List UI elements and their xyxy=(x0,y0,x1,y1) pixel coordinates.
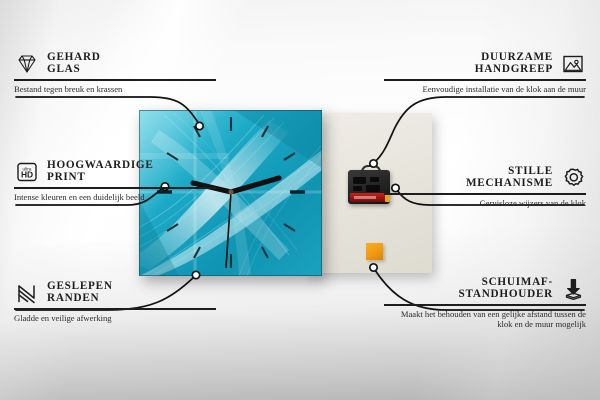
feature-stille-mechanisme: STILLE MECHANISME Geruisloze wijzers van… xyxy=(384,166,586,208)
feature-description: Geruisloze wijzers van de klok xyxy=(384,198,586,209)
feature-divider xyxy=(384,79,586,81)
feature-header: GESLEPEN RANDEN xyxy=(14,281,216,305)
feature-header: ultra HD HOOGWAARDIGE PRINT xyxy=(14,160,216,184)
feature-description: Intense kleuren en een duidelijk beeld xyxy=(14,192,216,203)
feature-header: DUURZAME HANDGREEP xyxy=(384,52,586,76)
feature-hoogwaardige-print: ultra HD HOOGWAARDIGE PRINT Intense kleu… xyxy=(14,160,216,202)
feature-description: Eenvoudige installatie van de klok aan d… xyxy=(384,84,586,95)
feature-title-line-2: HANDGREEP xyxy=(475,64,553,76)
feature-header: SCHUIMAF- STANDHOUDER xyxy=(384,277,586,301)
feature-title: GEHARD GLAS xyxy=(47,52,101,76)
feature-title: STILLE MECHANISME xyxy=(466,166,553,190)
infographic-canvas: GEHARD GLAS Bestand tegen breuk en krass… xyxy=(0,0,600,400)
feature-title-line-2: MECHANISME xyxy=(466,178,553,190)
feature-title-line-2: RANDEN xyxy=(47,293,113,305)
feature-title: GESLEPEN RANDEN xyxy=(47,281,113,305)
gear-icon xyxy=(560,166,586,190)
picture-frame-icon xyxy=(560,52,586,76)
feature-divider xyxy=(14,308,216,310)
feature-gehard-glas: GEHARD GLAS Bestand tegen breuk en krass… xyxy=(14,52,216,94)
foam-spacer-pad xyxy=(366,243,383,260)
diamond-icon xyxy=(14,52,40,76)
feature-divider xyxy=(384,193,586,195)
down-arrow-spacer-icon xyxy=(560,277,586,301)
feature-title-line-2: STANDHOUDER xyxy=(459,289,553,301)
diagonal-lines-icon xyxy=(14,281,40,305)
feature-title: DUURZAME HANDGREEP xyxy=(475,52,553,76)
aa-battery xyxy=(350,193,388,202)
feature-geslepen-randen: GESLEPEN RANDEN Gladde en veilige afwerk… xyxy=(14,281,216,323)
hanger-hook-icon xyxy=(361,165,381,175)
ultra-hd-icon: ultra HD xyxy=(14,160,40,184)
feature-header: STILLE MECHANISME xyxy=(384,166,586,190)
feature-divider xyxy=(14,187,216,189)
feature-description: Gladde en veilige afwerking xyxy=(14,313,216,324)
ultra-hd-icon-bottom-text: HD xyxy=(21,170,33,180)
feature-title-line-2: PRINT xyxy=(47,172,154,184)
feature-schuimafstandhouder: SCHUIMAF- STANDHOUDER Maakt het behouden… xyxy=(384,277,586,330)
feature-title-line-2: GLAS xyxy=(47,64,101,76)
feature-divider xyxy=(14,79,216,81)
feature-title: HOOGWAARDIGE PRINT xyxy=(47,160,154,184)
feature-description: Maakt het behouden van een gelijke afsta… xyxy=(384,309,586,330)
feature-description: Bestand tegen breuk en krassen xyxy=(14,84,216,95)
feature-title: SCHUIMAF- STANDHOUDER xyxy=(459,277,553,301)
feature-duurzame-handgreep: DUURZAME HANDGREEP Eenvoudige installati… xyxy=(384,52,586,94)
feature-divider xyxy=(384,304,586,306)
feature-header: GEHARD GLAS xyxy=(14,52,216,76)
